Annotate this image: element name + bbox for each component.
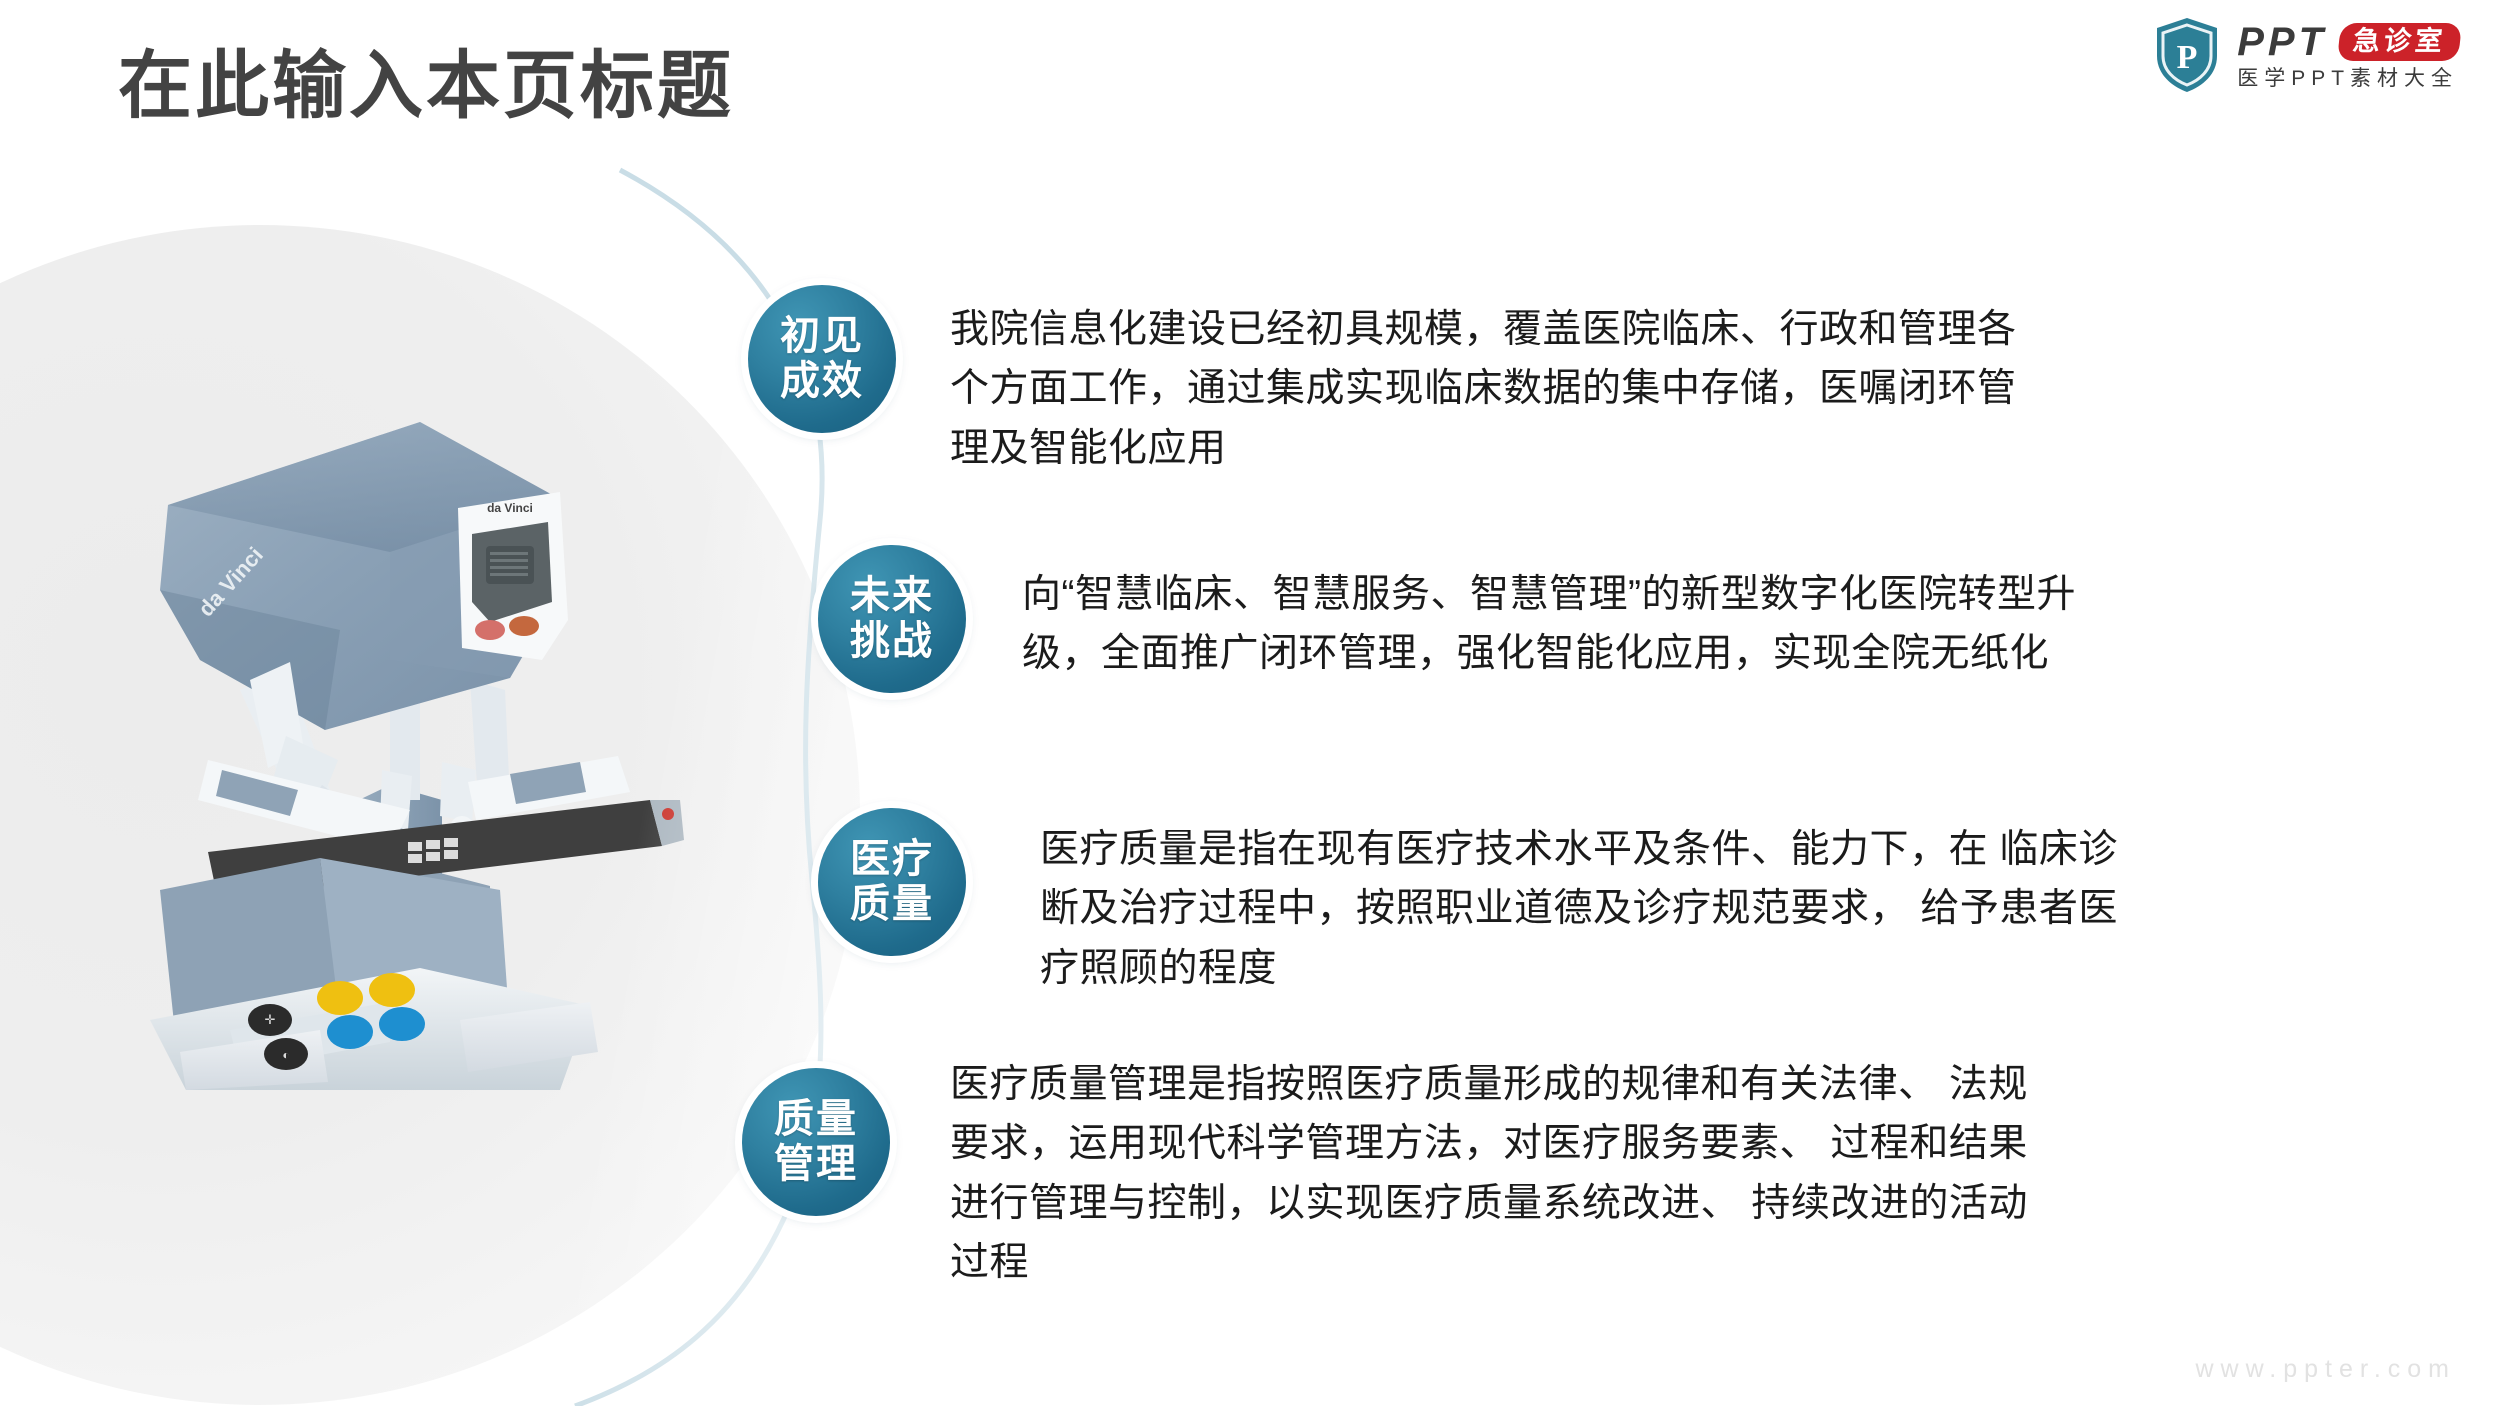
badge-item-2-line1: 未来 xyxy=(850,574,934,619)
surgical-robot-illustration: da Vinci da Vinci xyxy=(90,330,730,1090)
logo-tagline: 医学PPT素材大全 xyxy=(2237,68,2460,89)
shield-icon: P xyxy=(2153,16,2221,94)
svg-text:P: P xyxy=(2177,39,2198,76)
svg-text:✛: ✛ xyxy=(265,1012,276,1027)
brand-logo[interactable]: P PPT 急诊室 医学PPT素材大全 xyxy=(2153,16,2460,94)
paragraph-item-2: 向“智慧临床、智慧服务、智慧管理”的新型数字化医院转型升级，全面推广闭环管理，强… xyxy=(1022,565,2102,684)
badge-item-2-line2: 挑战 xyxy=(850,619,934,664)
logo-badge-text: 急诊室 xyxy=(2337,23,2462,61)
badge-item-1-line2: 成效 xyxy=(780,359,864,404)
logo-primary-row: PPT 急诊室 xyxy=(2237,22,2460,62)
logo-text-block: PPT 急诊室 医学PPT素材大全 xyxy=(2237,22,2460,89)
svg-text:◐: ◐ xyxy=(282,1048,289,1062)
slide-canvas: 在此输入本页标题 P PPT 急诊室 医学PPT素材大全 xyxy=(0,0,2500,1406)
badge-item-1-line1: 初见 xyxy=(780,314,864,359)
logo-brand-text: PPT xyxy=(2237,22,2327,62)
paragraph-item-3: 医疗质量是指在现有医疗技术水平及条件、能力下，在 临床诊断及治疗过程中，按照职业… xyxy=(1040,820,2120,998)
page-title: 在此输入本页标题 xyxy=(118,46,734,126)
badge-item-3-line1: 医疗 xyxy=(850,837,934,882)
badge-item-3-line2: 质量 xyxy=(850,882,934,927)
badge-item-4-line2: 管理 xyxy=(774,1142,858,1187)
badge-item-4[interactable]: 质量 管理 xyxy=(742,1068,890,1216)
badge-item-2[interactable]: 未来 挑战 xyxy=(818,545,966,693)
paragraph-item-1: 我院信息化建设已经初具规模，覆盖医院临床、行政和管理各个方面工作，通过集成实现临… xyxy=(950,300,2050,478)
watermark: www.ppter.com xyxy=(2195,1355,2456,1384)
paragraph-item-4: 医疗质量管理是指按照医疗质量形成的规律和有关法律、 法规要求，运用现代科学管理方… xyxy=(950,1055,2060,1292)
badge-item-1[interactable]: 初见 成效 xyxy=(748,285,896,433)
svg-text:da Vinci: da Vinci xyxy=(487,501,533,515)
badge-item-3[interactable]: 医疗 质量 xyxy=(818,808,966,956)
badge-item-4-line1: 质量 xyxy=(774,1097,858,1142)
